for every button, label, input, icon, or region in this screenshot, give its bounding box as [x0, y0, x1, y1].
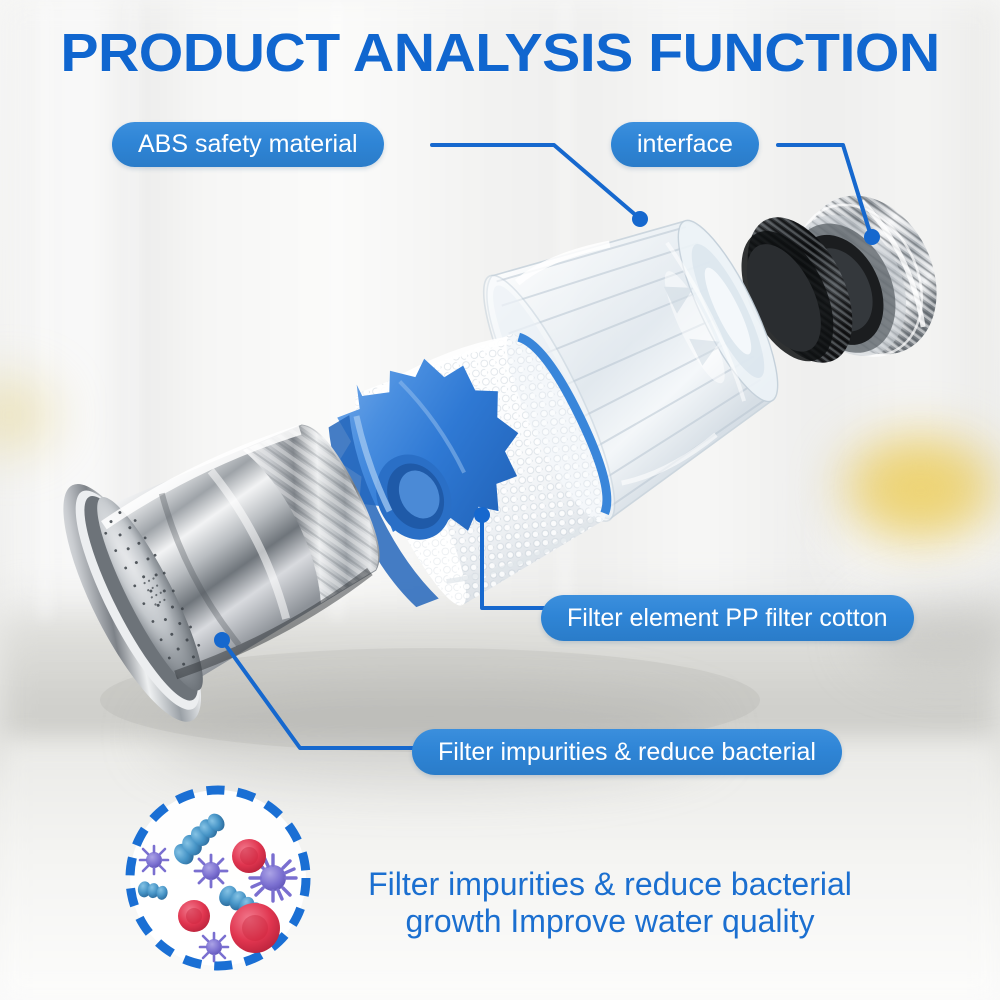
- bottom-caption: Filter impurities & reduce bacterial gro…: [330, 866, 890, 940]
- callout-label-abs-safety-material[interactable]: ABS safety material: [112, 122, 384, 167]
- callout-label-interface[interactable]: interface: [611, 122, 759, 167]
- bacteria-badge: [118, 783, 318, 973]
- bacteria-virus-illustration: [118, 783, 318, 973]
- page-title: PRODUCT ANALYSIS FUNCTION: [0, 22, 1000, 84]
- callout-label-filter-impurities-reduce-bacterial[interactable]: Filter impurities & reduce bacterial: [412, 729, 842, 775]
- callout-label-filter-element-pp-filter-cotton[interactable]: Filter element PP filter cotton: [541, 595, 914, 641]
- caption-line-2: growth Improve water quality: [330, 903, 890, 940]
- caption-line-1: Filter impurities & reduce bacterial: [368, 866, 852, 902]
